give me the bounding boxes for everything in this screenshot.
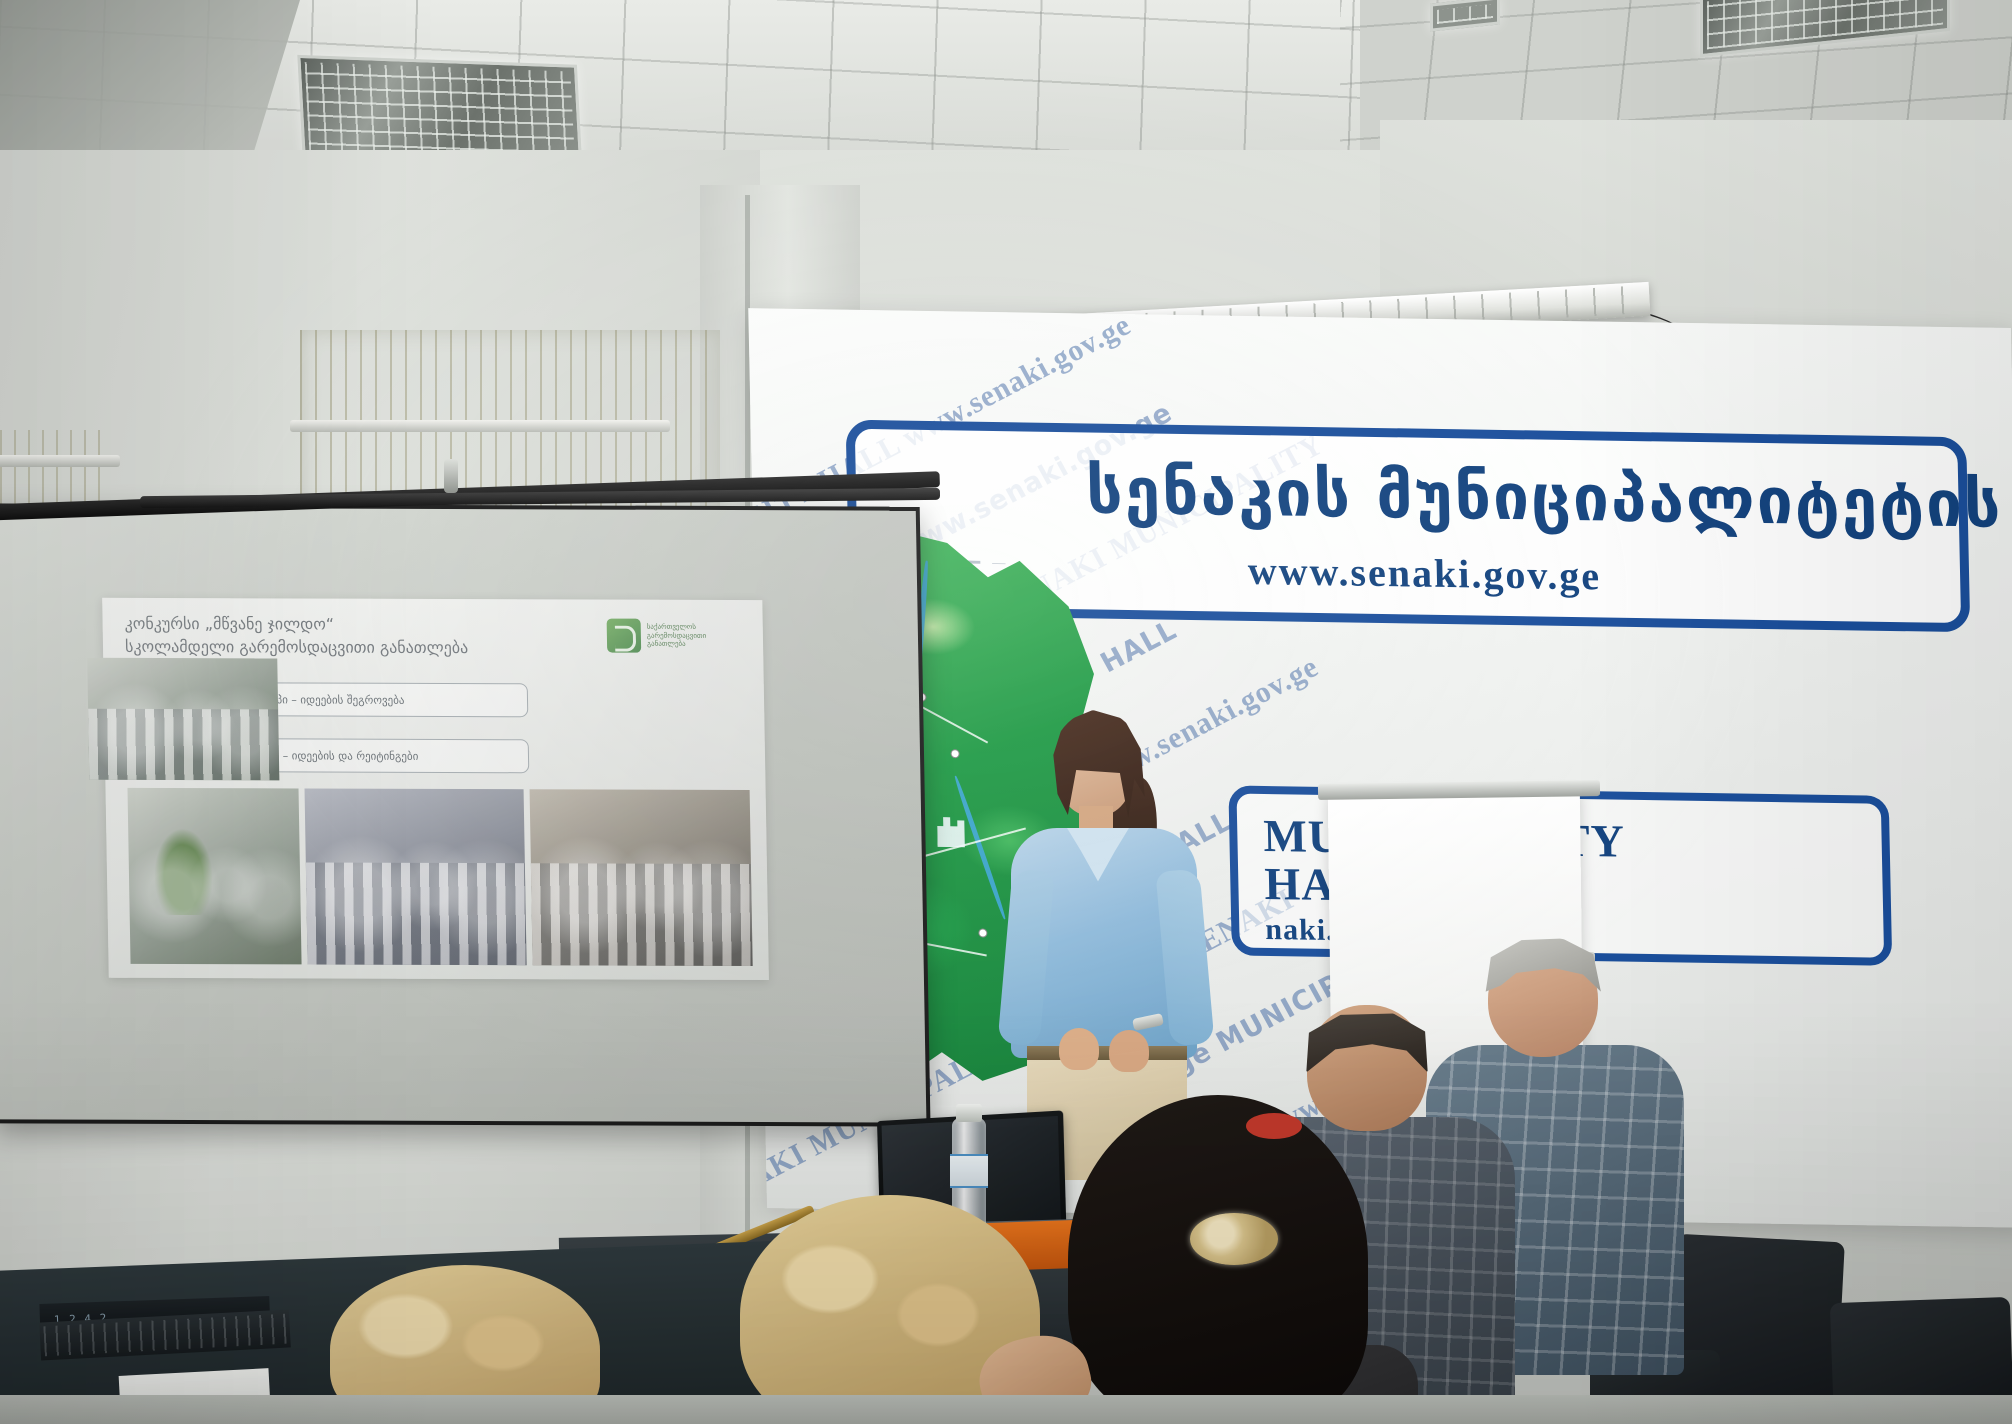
banner-website-url: www.senaki.gov.ge xyxy=(1247,547,1601,600)
projection-screen-surface: კონკურსი „მწვანე ჯილდო“ სკოლამდელი გარემ… xyxy=(0,507,926,1122)
slide-photo-people xyxy=(531,863,752,966)
presentation-slide: კონკურსი „მწვანე ჯილდო“ სკოლამდელი გარემ… xyxy=(102,598,769,980)
presenter-belt xyxy=(1027,1046,1187,1060)
blinds-rail xyxy=(290,420,670,432)
hair-clip-ornament xyxy=(1190,1213,1278,1265)
slide-title: კონკურსი „მწვანე ჯილდო“ სკოლამდელი გარემ… xyxy=(124,612,565,660)
projection-screen: კონკურსი „მწვანე ჯილდო“ სკოლამდელი გარემ… xyxy=(0,503,931,1126)
slide-photo-people xyxy=(88,709,279,780)
logo-text-line1: საქართველოს xyxy=(647,623,706,632)
slide-photo-participants-group xyxy=(530,789,753,966)
projection-screen-knob xyxy=(444,459,458,493)
slide-photo-classroom-plant xyxy=(127,788,301,965)
blinds-rail-left xyxy=(0,455,120,467)
slide-photo-award-ceremony xyxy=(87,658,279,781)
slide-title-line1: კონკურსი „მწვანე ჯილდო“ xyxy=(124,612,564,637)
potted-plant xyxy=(149,820,219,915)
floor xyxy=(0,1395,2012,1424)
water-bottle-cap xyxy=(956,1104,982,1122)
presenter-left-hand xyxy=(1059,1028,1099,1070)
banner-title-ka: სენაკის მუნიციპალიტეტის მერია xyxy=(1085,454,2012,546)
logo-text-line2: გარემოსდაცვითი xyxy=(647,631,706,640)
audience-woman-blonde-center xyxy=(740,1195,1070,1424)
photo-scene: SENAKI MUNICIPALITY CITY HALL www.senaki… xyxy=(0,0,2012,1424)
slide-photo-row xyxy=(127,788,752,966)
audience-woman-dark-hair xyxy=(1068,1095,1398,1424)
water-bottle-label xyxy=(950,1154,988,1188)
hair-tie xyxy=(1246,1113,1302,1139)
slide-organization-logo: საქართველოს გარემოსდაცვითი განათლება xyxy=(607,614,748,658)
slide-logo-text: საქართველოს გარემოსდაცვითი განათლება xyxy=(647,623,707,649)
leaf-logo-icon xyxy=(607,619,642,653)
slide-photo-conference-audience xyxy=(304,788,527,965)
logo-text-line3: განათლება xyxy=(647,640,706,649)
slide-photo-people xyxy=(306,862,527,965)
presenter-right-hand xyxy=(1109,1030,1149,1072)
slide-title-line2: სკოლამდელი გარემოსდაცვითი განათლება xyxy=(125,635,565,660)
